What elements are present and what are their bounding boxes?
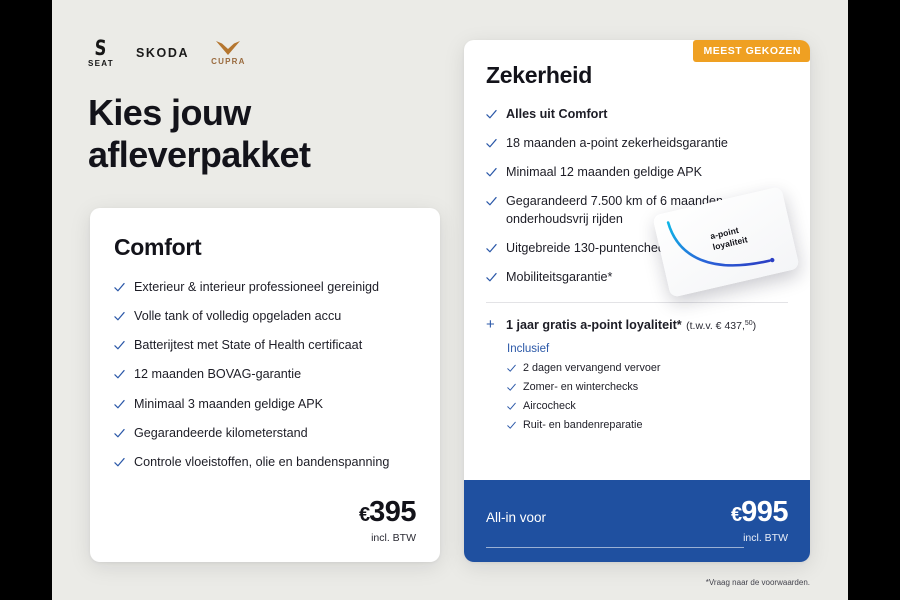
zekerheid-feature-label: Minimaal 12 maanden geldige APK: [506, 164, 702, 181]
seat-mark-icon: S: [94, 38, 107, 59]
loyalty-plus-row: + 1 jaar gratis a-point loyaliteit* (t.w…: [486, 316, 788, 334]
footer-rule: [486, 547, 744, 548]
check-icon: [486, 196, 497, 207]
list-item: 18 maanden a-point zekerheidsgarantie: [486, 135, 788, 152]
loyalty-note-suffix: ): [753, 320, 757, 332]
list-item: Minimaal 12 maanden geldige APK: [486, 164, 788, 181]
check-icon: [114, 369, 125, 380]
loyalty-plus-main: 1 jaar gratis a-point loyaliteit*: [506, 318, 682, 332]
comfort-feature-label: Controle vloeistoffen, olie en bandenspa…: [134, 454, 389, 471]
check-icon: [114, 311, 125, 322]
seat-logo: S SEAT: [88, 38, 114, 68]
zekerheid-feature-label: 18 maanden a-point zekerheidsgarantie: [506, 135, 728, 152]
list-item: Ruit- en bandenreparatie: [507, 418, 788, 432]
comfort-feature-label: Gegarandeerde kilometerstand: [134, 425, 308, 442]
page-title-line2: afleverpakket: [88, 134, 310, 175]
check-icon: [486, 272, 497, 283]
comfort-price: €395: [359, 498, 416, 527]
list-item: Minimaal 3 maanden geldige APK: [114, 396, 416, 413]
check-icon: [507, 402, 516, 411]
comfort-feature-label: Minimaal 3 maanden geldige APK: [134, 396, 323, 413]
inclusief-list: 2 dagen vervangend vervoerZomer- en wint…: [507, 361, 788, 432]
list-item: Exterieur & interieur professioneel gere…: [114, 279, 416, 296]
check-icon: [486, 109, 497, 120]
check-icon: [114, 340, 125, 351]
comfort-price-value: 395: [369, 496, 416, 528]
inclusief-item-label: Zomer- en winterchecks: [523, 380, 638, 394]
zekerheid-price-block: €995 incl. BTW: [731, 498, 788, 544]
check-icon: [486, 243, 497, 254]
footnote-text: *Vraag naar de voorwaarden.: [706, 578, 810, 587]
list-item: Batterijtest met State of Health certifi…: [114, 337, 416, 354]
brand-logo-row: S SEAT SKODA CUPRA: [88, 38, 246, 68]
list-item: 2 dagen vervangend vervoer: [507, 361, 788, 375]
comfort-price-note: incl. BTW: [359, 532, 416, 544]
inclusief-block: Inclusief 2 dagen vervangend vervoerZome…: [507, 343, 788, 432]
check-icon: [114, 282, 125, 293]
screenshot-canvas: S SEAT SKODA CUPRA Kies jouw afleverpakk…: [0, 0, 900, 600]
cupra-wordmark: CUPRA: [211, 58, 245, 66]
zekerheid-body: MEEST GEKOZEN Zekerheid Alles uit Comfor…: [464, 40, 810, 432]
comfort-currency-symbol: €: [359, 504, 369, 526]
zekerheid-footer-row: All-in voor €995 incl. BTW: [486, 498, 788, 544]
list-item: 12 maanden BOVAG-garantie: [114, 366, 416, 383]
page-title: Kies jouw afleverpakket: [88, 92, 310, 177]
comfort-title: Comfort: [114, 234, 416, 261]
check-icon: [486, 138, 497, 149]
list-item: Controle vloeistoffen, olie en bandenspa…: [114, 454, 416, 471]
skoda-logo: SKODA: [136, 46, 189, 60]
loyalty-plus-note: (t.w.v. € 437,50): [686, 320, 756, 332]
comfort-feature-label: Volle tank of volledig opgeladen accu: [134, 308, 341, 325]
zekerheid-feature-label: Alles uit Comfort: [506, 106, 607, 123]
package-card-zekerheid[interactable]: MEEST GEKOZEN Zekerheid Alles uit Comfor…: [464, 40, 810, 562]
inclusief-item-label: Ruit- en bandenreparatie: [523, 418, 642, 432]
inclusief-title: Inclusief: [507, 343, 788, 355]
comfort-feature-label: 12 maanden BOVAG-garantie: [134, 366, 301, 383]
loyalty-note-cents: 50: [745, 320, 753, 327]
cupra-logo: CUPRA: [211, 40, 245, 66]
zekerheid-title: Zekerheid: [486, 62, 788, 89]
list-item: Volle tank of volledig opgeladen accu: [114, 308, 416, 325]
comfort-feature-label: Batterijtest met State of Health certifi…: [134, 337, 362, 354]
check-icon: [486, 167, 497, 178]
cupra-mark-icon: [215, 40, 241, 56]
comfort-price-block: €395 incl. BTW: [359, 498, 416, 544]
list-item: Aircocheck: [507, 399, 788, 413]
allin-label: All-in voor: [486, 498, 546, 525]
section-divider: [486, 302, 788, 303]
comfort-feature-list: Exterieur & interieur professioneel gere…: [114, 279, 416, 471]
check-icon: [507, 421, 516, 430]
list-item: Zomer- en winterchecks: [507, 380, 788, 394]
check-icon: [507, 364, 516, 373]
inclusief-item-label: 2 dagen vervangend vervoer: [523, 361, 660, 375]
inclusief-item-label: Aircocheck: [523, 399, 576, 413]
check-icon: [507, 383, 516, 392]
list-item: Gegarandeerde kilometerstand: [114, 425, 416, 442]
seat-wordmark: SEAT: [88, 60, 114, 68]
check-icon: [114, 399, 125, 410]
zekerheid-price-footer: All-in voor €995 incl. BTW: [464, 480, 810, 562]
zekerheid-price: €995: [731, 498, 788, 527]
check-icon: [114, 457, 125, 468]
comfort-feature-label: Exterieur & interieur professioneel gere…: [134, 279, 379, 296]
zekerheid-feature-label: Mobiliteitsgarantie*: [506, 269, 612, 286]
zekerheid-feature-label: Uitgebreide 130-puntencheck: [506, 240, 671, 257]
slide-stage: S SEAT SKODA CUPRA Kies jouw afleverpakk…: [52, 0, 848, 600]
package-card-comfort[interactable]: Comfort Exterieur & interieur profession…: [90, 208, 440, 562]
loyalty-note-prefix: (t.w.v. € 437,: [686, 320, 745, 332]
page-title-line1: Kies jouw: [88, 92, 251, 133]
zekerheid-price-note: incl. BTW: [731, 532, 788, 544]
zekerheid-currency-symbol: €: [731, 504, 741, 526]
loyalty-plus-text: 1 jaar gratis a-point loyaliteit* (t.w.v…: [506, 316, 756, 334]
plus-icon: +: [486, 317, 497, 332]
status-badge: MEEST GEKOZEN: [693, 40, 810, 62]
list-item: Alles uit Comfort: [486, 106, 788, 123]
check-icon: [114, 428, 125, 439]
zekerheid-price-value: 995: [741, 496, 788, 528]
